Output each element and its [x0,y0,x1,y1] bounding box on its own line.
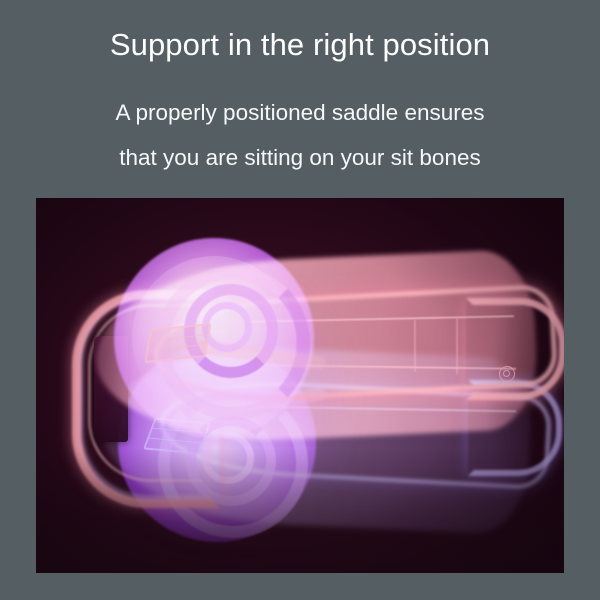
saddle-illustration [36,198,564,573]
page-title: Support in the right position [0,26,600,64]
saddle-panel-seam-b [456,318,458,374]
header-text-block: Support in the right position A properly… [0,0,600,198]
subtitle-line-2: that you are sitting on your sit bones [0,144,600,172]
nose-grommet-icon [499,366,515,382]
saddle-position-infographic: Support in the right position A properly… [0,0,600,600]
saddle-nose [466,298,564,400]
seatpost-clamp-upper [144,323,212,363]
saddle-panel-seam-a [414,320,416,372]
saddle-image-panel [36,198,564,573]
subtitle-line-1: A properly positioned saddle ensures [0,99,600,127]
